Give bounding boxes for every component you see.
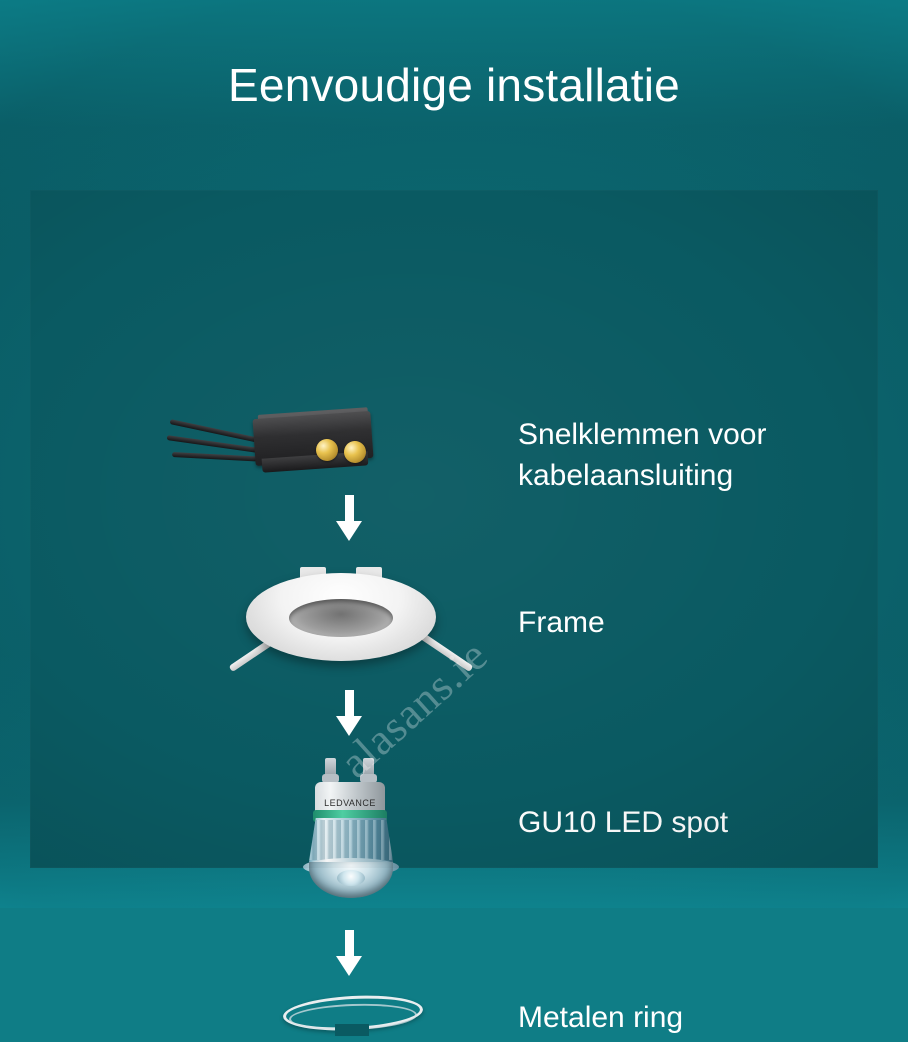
infographic-canvas: Eenvoudige installatie xyxy=(0,0,908,908)
down-arrow-icon xyxy=(336,930,362,976)
page-title: Eenvoudige installatie xyxy=(0,60,908,111)
led-lamp-icon: LEDVANCE xyxy=(285,758,417,908)
lamp-lens-highlight xyxy=(337,870,365,886)
frame-spring-clip xyxy=(418,632,473,672)
step-label-metal-ring: Metalen ring xyxy=(518,998,683,1039)
lamp-brand-label: LEDVANCE xyxy=(315,798,385,808)
metal-ring-gap xyxy=(335,1024,369,1036)
step-label-gu10-led-spot: GU10 LED spot xyxy=(518,803,728,844)
wire-icon xyxy=(172,452,268,462)
step-label-terminal-block: Snelklemmen voor kabelaansluiting xyxy=(518,415,878,496)
lamp-body-ribs xyxy=(309,820,393,860)
frame-inner-hole xyxy=(289,599,393,637)
down-arrow-icon xyxy=(336,690,362,736)
down-arrow-icon xyxy=(336,495,362,541)
step-label-frame: Frame xyxy=(518,603,605,644)
diagram-panel: LEDVANCE Snelklemmen voor kabelaansluiti… xyxy=(30,190,878,868)
recessed-frame-icon xyxy=(216,555,486,680)
terminal-block-icon xyxy=(166,405,396,495)
metal-ring-icon xyxy=(283,990,423,1042)
